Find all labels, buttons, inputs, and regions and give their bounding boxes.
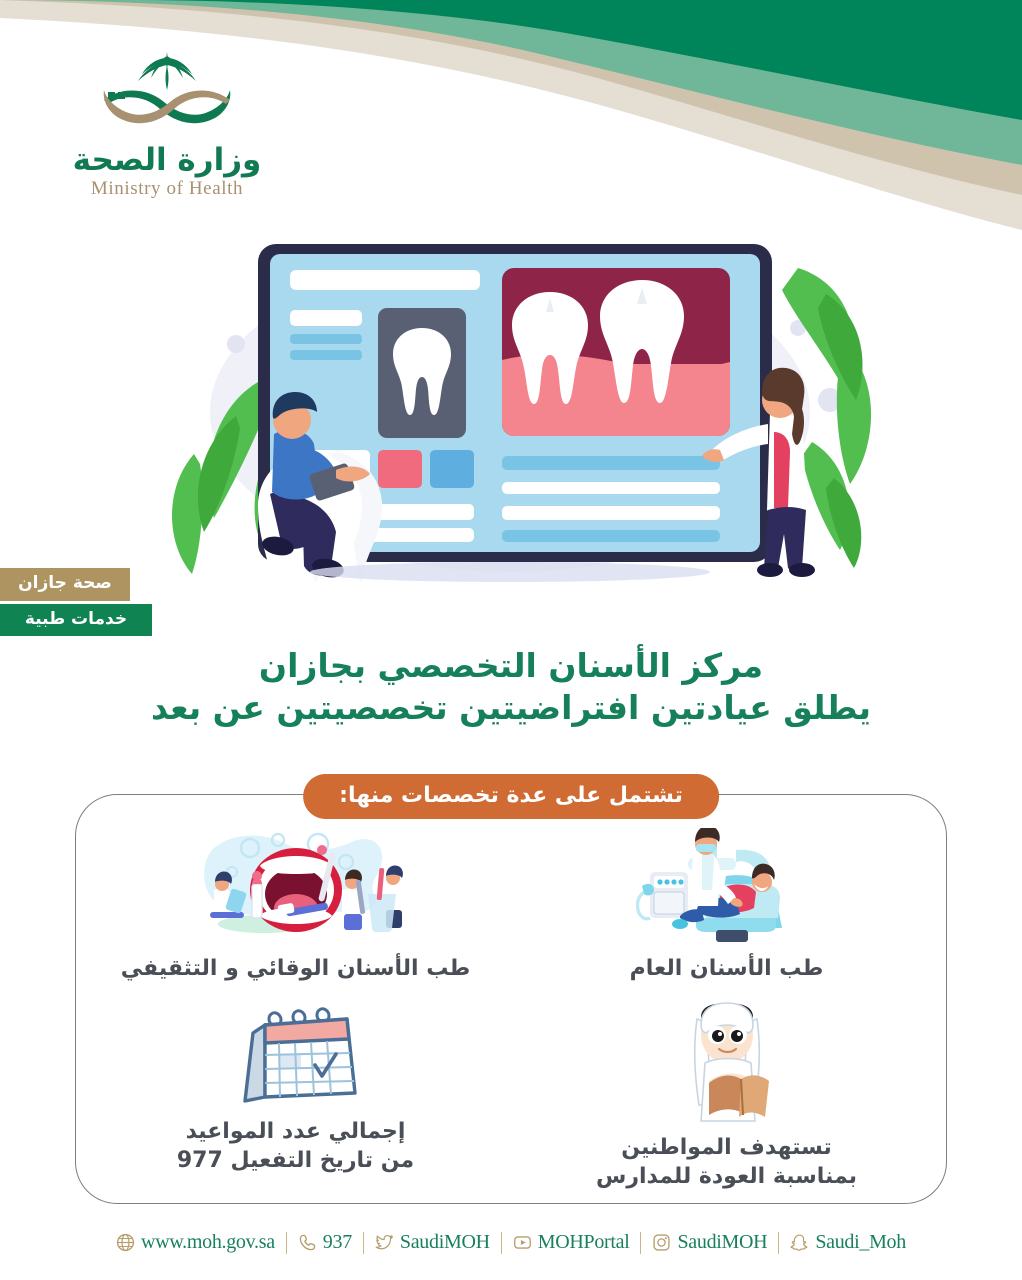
spec-item-preventive-dentistry: طب الأسنان الوقائي و التثقيفي <box>80 816 511 989</box>
specialties-grid: طب الأسنان العام <box>80 816 942 1191</box>
spec-item-students-campaign: تستهدف المواطنين بمناسبة العودة للمدارس <box>511 989 942 1191</box>
open-mouth-hygiene-icon <box>186 828 406 946</box>
globe-icon <box>116 1233 135 1252</box>
moh-logo: وزارة الصحة Ministry of Health <box>52 46 282 206</box>
spec-label-students-campaign: تستهدف المواطنين بمناسبة العودة للمدارس <box>596 1133 857 1191</box>
spec-item-general-dentistry: طب الأسنان العام <box>511 816 942 989</box>
footer-phone[interactable]: 937 <box>287 1231 363 1254</box>
badge-group: صحة جازان خدمات طبية <box>0 568 1022 636</box>
footer-contact-bar: www.moh.gov.sa 937 SaudiMOH MOHPortal <box>0 1231 1022 1254</box>
footer-website-label: www.moh.gov.sa <box>141 1231 275 1254</box>
footer-instagram[interactable]: SaudiMOH <box>641 1231 778 1254</box>
footer-instagram-label: SaudiMOH <box>677 1231 767 1254</box>
page-title: مركز الأسنان التخصصي بجازان يطلق عيادتين… <box>0 645 1022 729</box>
youtube-icon <box>513 1233 532 1252</box>
logo-label-arabic: وزارة الصحة <box>52 144 282 177</box>
spec-label-general-dentistry: طب الأسنان العام <box>630 954 824 983</box>
dental-chair-icon <box>636 828 818 946</box>
title-line-1: مركز الأسنان التخصصي بجازان <box>0 645 1022 687</box>
footer-website[interactable]: www.moh.gov.sa <box>105 1231 286 1254</box>
badge-region: صحة جازان <box>0 568 130 601</box>
instagram-icon <box>652 1233 671 1252</box>
footer-youtube-label: MOHPortal <box>538 1231 630 1254</box>
footer-youtube[interactable]: MOHPortal <box>502 1231 641 1254</box>
phone-icon <box>298 1233 317 1252</box>
student-reading-icon <box>667 1001 787 1125</box>
spec-label-appointments-total: إجمالي عدد المواعيد من تاريخ التفعيل 977 <box>177 1117 414 1175</box>
calendar-check-icon <box>231 1001 361 1109</box>
title-line-2: يطلق عيادتين افتراضيتين تخصصيتين عن بعد <box>0 687 1022 729</box>
logo-label-english: Ministry of Health <box>52 178 282 200</box>
dental-telehealth-illustration-icon <box>150 232 880 582</box>
badge-service: خدمات طبية <box>0 604 152 637</box>
footer-twitter-label: SaudiMOH <box>400 1231 490 1254</box>
spec-item-appointments-total: إجمالي عدد المواعيد من تاريخ التفعيل 977 <box>80 989 511 1191</box>
footer-phone-label: 937 <box>323 1231 352 1254</box>
footer-snapchat[interactable]: Saudi_Moh <box>779 1231 917 1254</box>
infographic-poster: وزارة الصحة Ministry of Health <box>0 0 1022 1280</box>
footer-snapchat-label: Saudi_Moh <box>815 1231 906 1254</box>
specialties-pill-heading: تشتمل على عدة تخصصات منها: <box>303 774 719 819</box>
moh-palm-swords-logo-icon <box>82 46 252 142</box>
twitter-icon <box>375 1233 394 1252</box>
spec-label-preventive-dentistry: طب الأسنان الوقائي و التثقيفي <box>121 954 471 983</box>
snapchat-icon <box>790 1233 809 1252</box>
footer-twitter[interactable]: SaudiMOH <box>364 1231 501 1254</box>
